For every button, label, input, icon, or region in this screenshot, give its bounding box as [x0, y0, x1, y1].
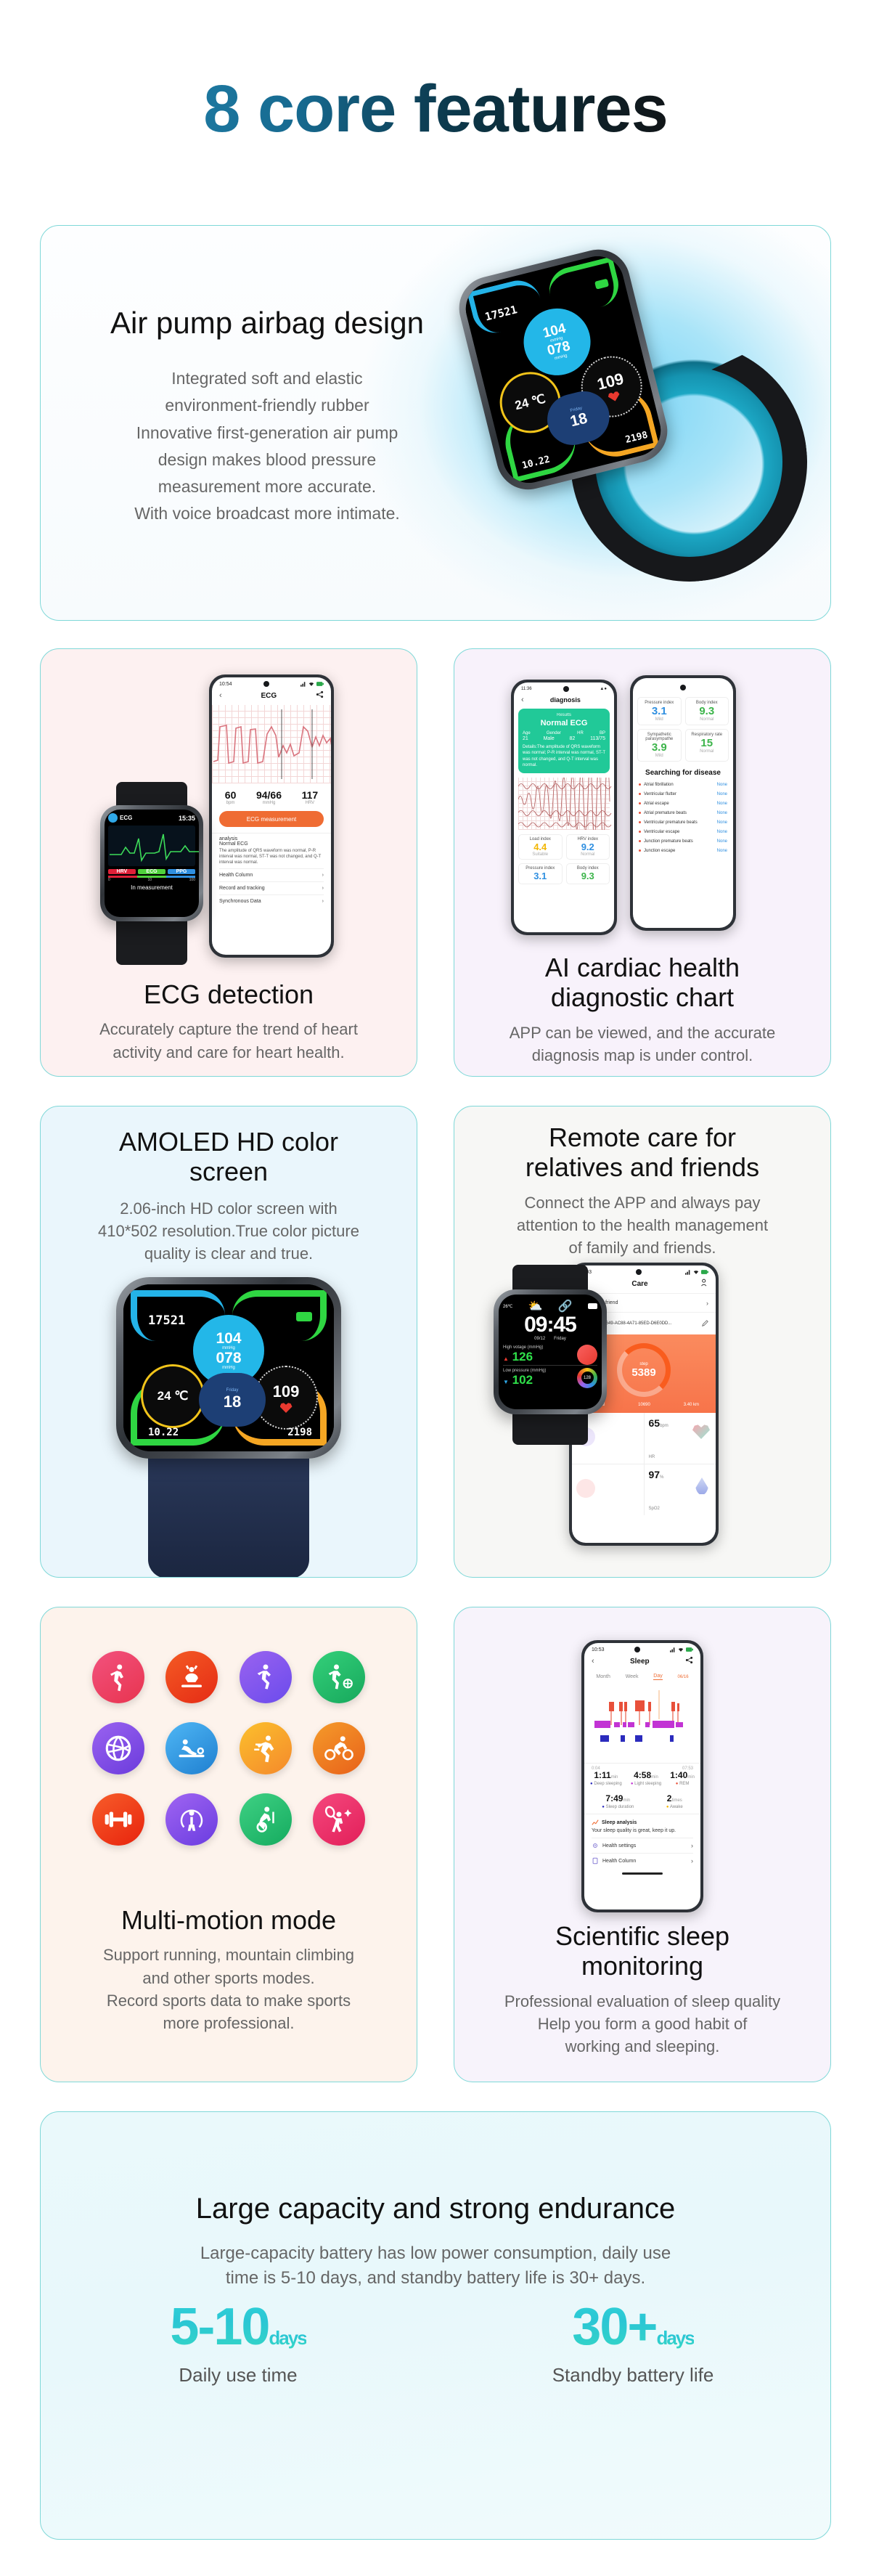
document-icon — [592, 1857, 599, 1864]
list-item[interactable]: Ventricular premature beats None — [639, 818, 727, 827]
feature-card-air-pump: Air pump airbag design Integrated soft a… — [40, 225, 831, 621]
signal-icon — [685, 1270, 691, 1275]
ecg-phone-mock: 10:54 ‹ ECG — [209, 674, 334, 958]
camera-notch-icon — [263, 681, 269, 687]
add-friend-icon[interactable] — [700, 1279, 708, 1289]
status-time: 10:53 — [592, 1647, 605, 1652]
care-watch-low: Low pressure (mmHg) ▼ 102 128 — [503, 1365, 597, 1388]
watch-face: 17521 104 mmHg 078 mmHg 24 ℃ — [460, 250, 666, 488]
wifi-icon — [678, 1647, 684, 1652]
sport-icon-yoga[interactable] — [165, 1651, 218, 1703]
sport-icon-scooter[interactable] — [240, 1793, 292, 1846]
ecg-waveform-chart — [212, 705, 331, 783]
daily-use-number: 5-10 — [170, 2298, 269, 2356]
sleep-stages-chart: 0:04 07:53 — [584, 1684, 700, 1763]
battery-text-block: Large capacity and strong endurance Larg… — [41, 2192, 830, 2291]
status-icons — [300, 682, 324, 687]
index-tile: Pressure index 3.1 Mild — [637, 697, 682, 725]
disease-index-grid: Pressure index 3.1 Mild Body index 9.3 N… — [633, 694, 733, 765]
feature-card-ecg: 10:54 ‹ ECG — [40, 648, 417, 1077]
index-tile: Sympathetic parasympathe 3.9 Mild — [637, 729, 682, 762]
sport-icon-running[interactable] — [240, 1722, 292, 1774]
wifi-icon — [693, 1270, 699, 1275]
bullet-icon — [639, 849, 641, 852]
daily-use-unit: days — [269, 2327, 306, 2349]
care-watch-statusrow: 26℃ ⛅ 🔗 — [503, 1299, 597, 1313]
ecg-analysis-block: analysis Normal ECG The amplitude of QRS… — [212, 833, 331, 868]
ecg-metrics-row: 60 bpm 94/66 mmHg 117 HRV — [212, 783, 331, 810]
share-icon[interactable] — [685, 1656, 693, 1666]
camera-notch-icon — [636, 1269, 642, 1275]
sport-icon-badminton[interactable] — [313, 1793, 365, 1846]
sport-icon-jump-rope[interactable] — [165, 1793, 218, 1846]
ecg-app-title: ECG — [261, 692, 277, 700]
ecg-watch-mock: ECG 15:35 HRV ECG PPG — [100, 805, 203, 921]
air-pump-title: Air pump airbag design — [71, 306, 463, 341]
sleep-card-desc: Professional evaluation of sleep quality… — [467, 1990, 817, 2058]
edit-icon[interactable] — [702, 1317, 708, 1330]
ecg-row-list: Health Column› Record and tracking› Sync… — [212, 868, 331, 908]
signal-icon — [300, 682, 306, 687]
disease-phone-mock: Pressure index 3.1 Mild Body index 9.3 N… — [630, 675, 736, 931]
battery-icon — [296, 1312, 312, 1321]
battery-icon — [701, 1270, 708, 1274]
watch-clock: 15:35 — [179, 815, 195, 822]
sleep-row-list: Health settings › Health Column › — [584, 1838, 700, 1868]
chevron-right-icon: › — [706, 1300, 708, 1307]
chevron-right-icon: › — [322, 873, 324, 878]
metric-bpm: 60 bpm — [225, 789, 237, 805]
ecg-watch-header: ECG 15:35 — [108, 813, 195, 823]
gear-icon — [592, 1842, 599, 1849]
home-indicator — [622, 1872, 663, 1875]
bullet-icon — [639, 821, 641, 823]
amoled-desc: 2.06-inch HD color screen with 410*502 r… — [54, 1197, 404, 1265]
stat-awake: 2times ● Awake — [666, 1792, 683, 1809]
standby-unit: days — [656, 2327, 693, 2349]
ecg-title: ECG detection — [54, 979, 404, 1009]
list-item[interactable]: Atrial fibrillation None — [639, 780, 727, 789]
sport-icon-volleyball[interactable] — [92, 1722, 144, 1774]
chevron-right-icon: › — [691, 1842, 693, 1849]
bullet-icon — [639, 793, 641, 795]
sleep-axis-labels: 0:04 07:53 — [590, 1766, 695, 1771]
ecg-watch-tags: HRV ECG PPG — [108, 869, 195, 874]
ecg-watch-scale-labels: 0 10 100 — [108, 878, 195, 882]
phone-statusbar: 10:54 — [212, 677, 331, 688]
ecg-app-icon — [108, 813, 118, 823]
care-watch-mock: 26℃ ⛅ 🔗 09:45 09/12 Friday High votage (… — [494, 1289, 607, 1414]
sleep-analysis-block: Sleep analysis Your sleep quality is gre… — [584, 1814, 700, 1838]
remote-care-desc: Connect the APP and always pay attention… — [467, 1191, 817, 1260]
standby-number: 30+ — [572, 2298, 656, 2356]
blood-drop-icon — [577, 1345, 597, 1365]
ecg-text-block: ECG detection Accurately capture the tre… — [41, 979, 417, 1064]
battery-icon — [316, 682, 324, 686]
diagnosis-result-panel: Results Normal ECG Age Gender HR BP 21 M… — [518, 709, 610, 773]
sleep-text-block: Scientific sleep monitoring Professional… — [454, 1921, 830, 2058]
back-icon[interactable]: ‹ — [219, 691, 222, 700]
list-item[interactable]: Health Column› — [219, 868, 324, 881]
camera-notch-icon — [563, 686, 569, 692]
index-tile: Pressure index 3.1 — [518, 863, 563, 884]
signal-icon — [670, 1647, 676, 1652]
sport-icon-walking-fast[interactable] — [92, 1651, 144, 1703]
feature-card-ai-cardiac: 11:36▲● ‹ diagnosis Results Normal ECG A… — [454, 648, 831, 1077]
ai-cardiac-text-block: AI cardiac health diagnostic chart APP c… — [454, 953, 830, 1067]
care-watch-daterow: 09/12 Friday — [503, 1337, 597, 1341]
sport-icon-walk[interactable] — [240, 1651, 292, 1703]
ecg-watch-scalebar — [108, 876, 195, 878]
bullet-icon — [639, 783, 641, 786]
amoled-date: Friday 18 — [199, 1373, 266, 1427]
sleep-stats-row-2: 7:49min ● Sleep duration 2times ● Awake — [584, 1789, 700, 1814]
care-title: Care — [631, 1280, 647, 1288]
multi-motion-desc: Support running, mountain climbing and o… — [54, 1944, 404, 2034]
amoled-text-block: AMOLED HD color screen 2.06-inch HD colo… — [41, 1127, 417, 1265]
feature-card-remote-care: Remote care for relatives and friends Co… — [454, 1106, 831, 1578]
ecg-appbar: ‹ ECG — [212, 688, 331, 705]
ecg-watch-status: In measurement — [108, 884, 195, 891]
list-item[interactable]: Junction escape None — [639, 846, 727, 855]
back-icon[interactable]: ‹ — [521, 696, 524, 704]
ecg-watch-waveform — [108, 826, 195, 866]
sleep-card-title: Scientific sleep monitoring — [467, 1921, 817, 1981]
ecg-desc: Accurately capture the trend of heart ac… — [54, 1018, 404, 1063]
steps-value: 5389 — [631, 1366, 655, 1379]
ecg-measurement-button[interactable]: ECG measurement — [219, 811, 324, 827]
diagnosis-fields: Age Gender HR BP — [523, 731, 605, 735]
sleep-tabs: Month Week Day 06/16 — [584, 1671, 700, 1684]
battery-desc: Large-capacity battery has low power con… — [84, 2241, 787, 2291]
page-title: 8 core features — [203, 71, 668, 147]
stat-light: 4:58min ● Light sleeping — [631, 1769, 661, 1786]
sport-icon-cycling[interactable] — [313, 1722, 365, 1774]
bullet-icon — [639, 802, 641, 804]
ai-cardiac-title: AI cardiac health diagnostic chart — [467, 953, 817, 1013]
index-tile: Load index 4.4 Suitable — [518, 834, 563, 860]
tab-week[interactable]: Week — [626, 1674, 639, 1679]
tab-month[interactable]: Month — [596, 1674, 610, 1679]
diagnosis-phone-mock: 11:36▲● ‹ diagnosis Results Normal ECG A… — [511, 680, 617, 935]
index-tile: Body index 9.3 — [566, 863, 610, 884]
disease-list: Atrial fibrillation None Ventricular flu… — [633, 780, 733, 855]
infographic-page: 8 core features Air pump airbag design I… — [0, 0, 871, 2576]
battery-icon — [686, 1647, 693, 1652]
amoled-distance: 10.22 — [148, 1427, 179, 1438]
sports-icon-grid — [41, 1651, 417, 1846]
chevron-right-icon: › — [322, 886, 324, 891]
sport-icon-dumbbell[interactable] — [92, 1793, 144, 1846]
air-pump-watch-photo: 17521 104 mmHg 078 mmHg 24 ℃ — [476, 261, 817, 595]
remote-care-text-block: Remote care for relatives and friends Co… — [454, 1122, 830, 1259]
diagnosis-title: diagnosis — [550, 696, 581, 704]
index-tile: HRV index 9.2 Normal — [566, 834, 610, 860]
disease-list-title: Searching for disease — [633, 765, 733, 780]
sleep-phone-mock: 10:53 ‹ Sleep Month Week Day 06/16 — [581, 1640, 703, 1912]
battery-icon — [588, 1303, 597, 1309]
list-item[interactable]: Health settings › — [592, 1838, 693, 1853]
diagnosis-index-grid: Load index 4.4 Suitable HRV index 9.2 No… — [514, 834, 614, 884]
battery-stat-standby: 30+days Standby battery life — [435, 2297, 830, 2387]
index-tile: Body index 9.3 Normal — [685, 697, 729, 725]
weather-icon: ⛅ — [528, 1299, 543, 1313]
air-pump-text-block: Air pump airbag design Integrated soft a… — [71, 306, 463, 528]
bullet-icon — [639, 812, 641, 814]
tile-hr[interactable]: 65bpm HR — [645, 1413, 716, 1464]
list-item[interactable]: Ventricular escape None — [639, 827, 727, 836]
standby-caption: Standby battery life — [435, 2364, 830, 2387]
air-pump-desc: Integrated soft and elastic environment-… — [71, 365, 463, 528]
battery-stats-row: 5-10days Daily use time 30+days Standby … — [41, 2297, 830, 2387]
list-item[interactable]: Atrial escape None — [639, 799, 727, 808]
list-item[interactable]: Atrial premature beats None — [639, 808, 727, 818]
stat-duration: 7:49min ● Sleep duration — [602, 1792, 634, 1809]
care-watch-high: High votage (mmHg) ▲ 126 — [503, 1345, 597, 1365]
sport-icon-basketball[interactable] — [313, 1651, 365, 1703]
page-header: 8 core features — [0, 0, 871, 218]
feature-card-battery: Large capacity and strong endurance Larg… — [40, 2111, 831, 2540]
wifi-icon — [308, 682, 314, 687]
chevron-right-icon: › — [691, 1857, 693, 1864]
metric-hrv: 117 HRV — [302, 789, 319, 805]
date-chip[interactable]: 06/16 — [678, 1675, 689, 1679]
link-icon: 🔗 — [558, 1299, 573, 1313]
hr-ring-icon: 128 — [577, 1368, 597, 1388]
bullet-icon — [639, 831, 641, 833]
list-item[interactable]: Health Column › — [592, 1853, 693, 1868]
list-item[interactable]: Ventricular flutter None — [639, 789, 727, 799]
battery-title: Large capacity and strong endurance — [84, 2192, 787, 2225]
diagnosis-ecg-strip — [518, 778, 610, 830]
tab-day[interactable]: Day — [653, 1674, 662, 1680]
amoled-calories: 2198 — [287, 1427, 312, 1438]
list-item[interactable]: Synchronous Data› — [219, 894, 324, 908]
status-icons — [670, 1647, 693, 1652]
index-tile: Respiratory rate 15 Normal — [685, 729, 729, 762]
list-item[interactable]: Record and tracking› — [219, 881, 324, 894]
back-icon[interactable]: ‹ — [592, 1657, 594, 1666]
amoled-watch-face: 17521 104 mmHg 078 mmHg 24 ℃ 109 — [123, 1284, 334, 1451]
amoled-title: AMOLED HD color screen — [54, 1127, 404, 1187]
status-time: 10:54 — [219, 682, 232, 687]
sleep-title: Sleep — [630, 1658, 650, 1666]
status-time: 11:36 — [521, 687, 532, 691]
tile-spo2[interactable]: 97% SpO2 — [645, 1464, 716, 1515]
analysis-chart-icon — [592, 1819, 599, 1826]
status-icons — [685, 1270, 708, 1275]
camera-notch-icon — [680, 685, 686, 690]
chevron-right-icon: › — [322, 899, 324, 904]
share-icon[interactable] — [316, 690, 324, 701]
multi-motion-text-block: Multi-motion mode Support running, mount… — [41, 1905, 417, 2034]
stat-deep: 1:11min ● Deep sleeping — [590, 1769, 622, 1786]
tile-other[interactable] — [572, 1464, 644, 1515]
bullet-icon — [639, 840, 641, 842]
feature-card-sleep: 10:53 ‹ Sleep Month Week Day 06/16 — [454, 1607, 831, 2082]
battery-stat-daily: 5-10days Daily use time — [41, 2297, 435, 2387]
health-tiles: 65bpm HR 97% SpO2 — [572, 1413, 716, 1515]
watch-device: 17521 104 mmHg 078 mmHg 24 ℃ — [452, 242, 674, 496]
multi-motion-title: Multi-motion mode — [54, 1905, 404, 1935]
feature-card-multi-motion: Multi-motion mode Support running, mount… — [40, 1607, 417, 2082]
metric-bp: 94/66 mmHg — [256, 789, 282, 805]
feature-card-amoled: AMOLED HD color screen 2.06-inch HD colo… — [40, 1106, 417, 1578]
amoled-steps: 17521 — [148, 1313, 185, 1328]
amoled-temperature: 24 ℃ — [141, 1364, 205, 1428]
camera-notch-icon — [634, 1647, 640, 1652]
status-icons: ▲● — [600, 687, 607, 691]
remote-care-title: Remote care for relatives and friends — [467, 1122, 817, 1183]
list-item[interactable]: Junction premature beats None — [639, 836, 727, 846]
sport-icon-rowing[interactable] — [165, 1722, 218, 1774]
stat-rem: 1:40min ● REM — [670, 1769, 695, 1786]
amoled-watch-photo: 17521 104 mmHg 078 mmHg 24 ℃ 109 — [116, 1277, 341, 1459]
daily-use-caption: Daily use time — [41, 2364, 435, 2387]
care-watch-time: 09:45 — [503, 1313, 597, 1337]
ai-cardiac-desc: APP can be viewed, and the accurate diag… — [467, 1022, 817, 1067]
